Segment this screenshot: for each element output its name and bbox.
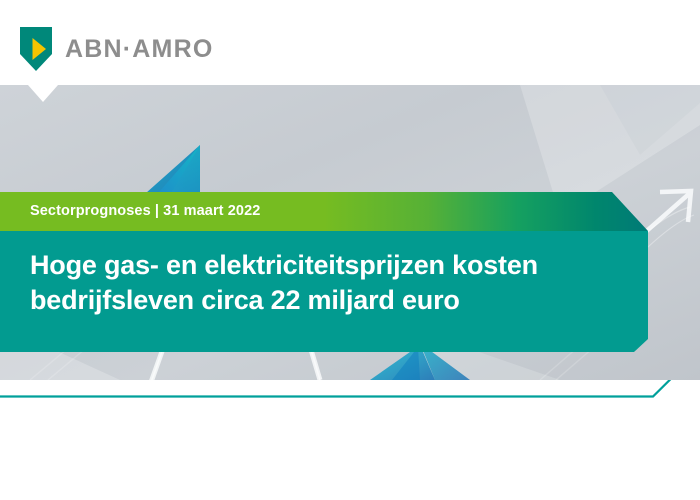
tag-label: Sectorprognoses | 31 maart 2022	[30, 192, 260, 231]
headline-line-1: Hoge gas- en elektriciteitsprijzen koste…	[30, 248, 620, 283]
abn-amro-logo[interactable]: ABN·AMRO	[20, 27, 213, 71]
headline-block: Hoge gas- en elektriciteitsprijzen koste…	[0, 231, 648, 352]
hero-banner: Sectorprognoses | 31 maart 2022 Hoge gas…	[0, 85, 700, 380]
tag-bar: Sectorprognoses | 31 maart 2022	[0, 192, 648, 231]
page-header: ABN·AMRO	[0, 0, 700, 85]
headline-line-2: bedrijfsleven circa 22 miljard euro	[30, 283, 620, 318]
abn-amro-wordmark: ABN·AMRO	[65, 37, 213, 62]
abn-amro-shield-icon	[20, 27, 52, 71]
page-footer	[0, 380, 700, 500]
page-title: Hoge gas- en elektriciteitsprijzen koste…	[30, 248, 620, 318]
slide-canvas: ABN·AMRO	[0, 0, 700, 500]
